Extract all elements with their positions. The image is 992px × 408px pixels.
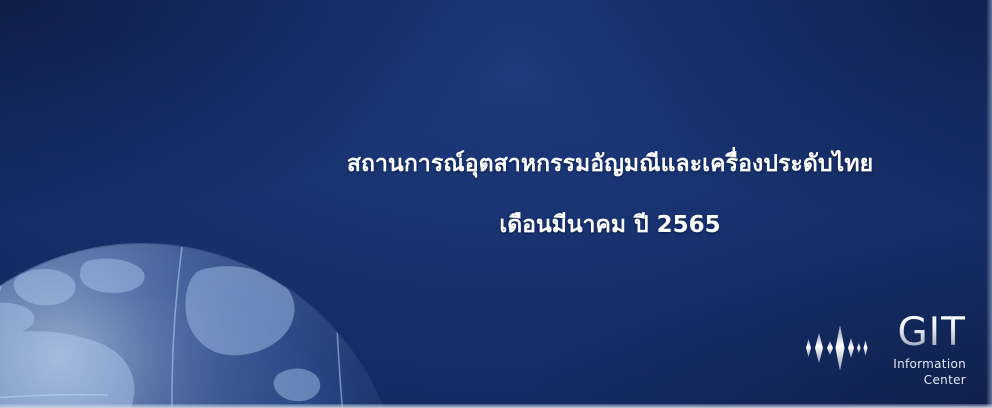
git-waveform-diamond-mark — [802, 322, 870, 374]
globe-sphere — [0, 243, 402, 408]
git-logo-line-information: Information — [893, 356, 966, 372]
page-subtitle: เดือนมีนาคม ปี 2565 — [300, 211, 920, 240]
right-edge-highlight — [986, 0, 992, 408]
gem-industry-situation-banner: สถานการณ์อุตสาหกรรมอัญมณีและเครื่องประดั… — [0, 0, 992, 408]
world-globe-graphic — [0, 243, 402, 408]
bottom-edge-strip — [0, 404, 992, 408]
globe-continents-and-gridlines — [0, 243, 402, 408]
globe-gridlines — [0, 245, 402, 408]
git-brand-wordmark: GIT — [897, 314, 966, 351]
page-title: สถานการณ์อุตสาหกรรมอัญมณีและเครื่องประดั… — [300, 150, 920, 179]
git-logo-line-center: Center — [924, 372, 966, 388]
globe-landmass-group — [0, 259, 402, 408]
git-logo-text-block: GIT Information Center — [870, 314, 978, 388]
git-information-center-logo: GIT Information Center — [802, 314, 978, 400]
banner-headline-block: สถานการณ์อุตสาหกรรมอัญมณีและเครื่องประดั… — [300, 150, 920, 240]
